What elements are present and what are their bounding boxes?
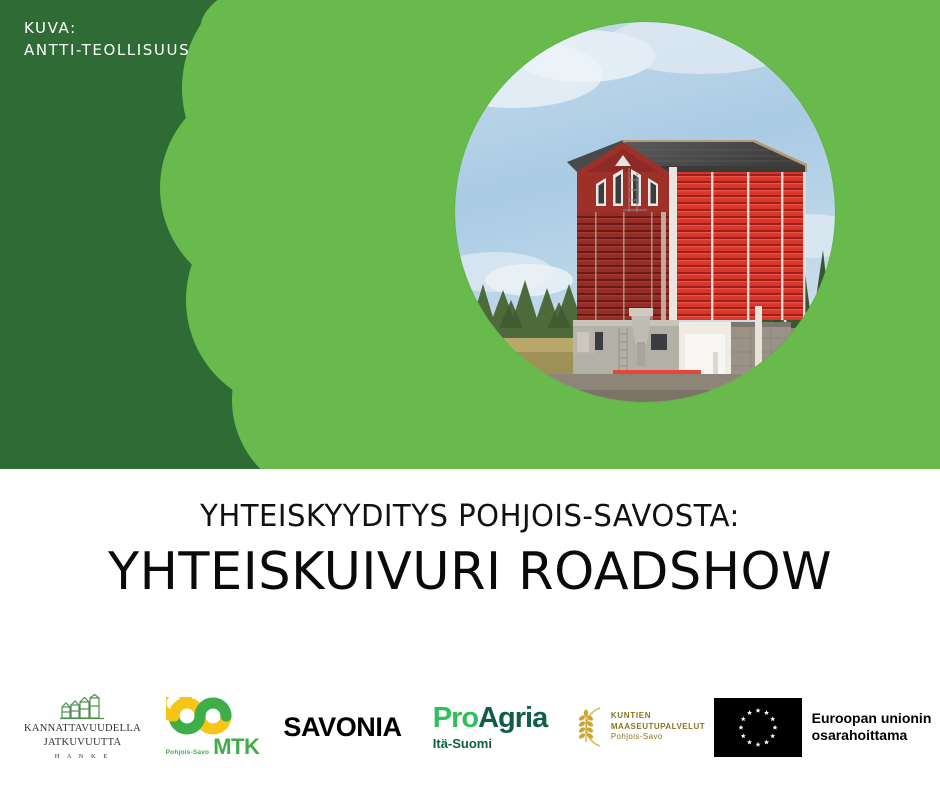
logo-kj-line3: H A N K E (55, 753, 111, 760)
hero-photo-circle (455, 22, 835, 402)
logo-kj-line2: JATKUVUUTTA (44, 737, 122, 748)
poster-root: KUVA: ANTTI-TEOLLISUUS (0, 0, 940, 788)
logo-mtk-name: MTK (213, 736, 259, 758)
logo-kuntien-line2: MAASEUTUPALVELUT (611, 722, 705, 733)
logo-kuntien-line1: KUNTIEN (611, 711, 705, 722)
grain-silos-icon (60, 694, 106, 720)
logo-eu-cofunded[interactable]: Euroopan unionin osarahoittama (713, 687, 933, 767)
grain-dryer-photo (455, 22, 835, 402)
logo-kannattavuudella-jatkuvuutta[interactable]: KANNATTAVUUDELLA JATKUVUUTTA H A N K E (8, 687, 158, 767)
logo-eu-text: Euroopan unionin osarahoittama (812, 710, 932, 745)
logo-proagria-part2: Agria (478, 704, 547, 733)
logo-kuntien-maaseutupalvelut[interactable]: KUNTIEN MAASEUTUPALVELUT Pohjois-Savo (563, 687, 713, 767)
logo-proagria-region: Itä-Suomi (433, 736, 492, 751)
image-credit: KUVA: ANTTI-TEOLLISUUS (24, 18, 190, 62)
headline-block: YHTEISKYYDITYS POHJOIS-SAVOSTA: YHTEISKU… (0, 500, 940, 601)
mtk-infinity-icon (166, 697, 240, 735)
logo-proagria-part1: Pro (433, 704, 478, 733)
logo-mtk-region: Pohjois-Savo (166, 749, 210, 756)
page-title: YHTEISKUIVURI ROADSHOW (9, 543, 930, 601)
wheat-ear-icon (570, 704, 604, 750)
partner-logo-strip: KANNATTAVUUDELLA JATKUVUUTTA H A N K E P… (0, 684, 940, 770)
logo-kj-line1: KANNATTAVUUDELLA (24, 723, 141, 734)
logo-kuntien-line3: Pohjois-Savo (611, 732, 705, 743)
logo-savonia-name: SAVONIA (283, 712, 401, 743)
kicker-text: YHTEISKYYDITYS POHJOIS-SAVOSTA: (14, 500, 926, 533)
logo-proagria-ita-suomi[interactable]: Pro Agria Itä-Suomi (418, 687, 563, 767)
eu-flag-stars-icon (714, 698, 802, 757)
logo-mtk-pohjois-savo[interactable]: Pohjois-Savo MTK (158, 687, 268, 767)
logo-savonia[interactable]: SAVONIA (268, 687, 418, 767)
